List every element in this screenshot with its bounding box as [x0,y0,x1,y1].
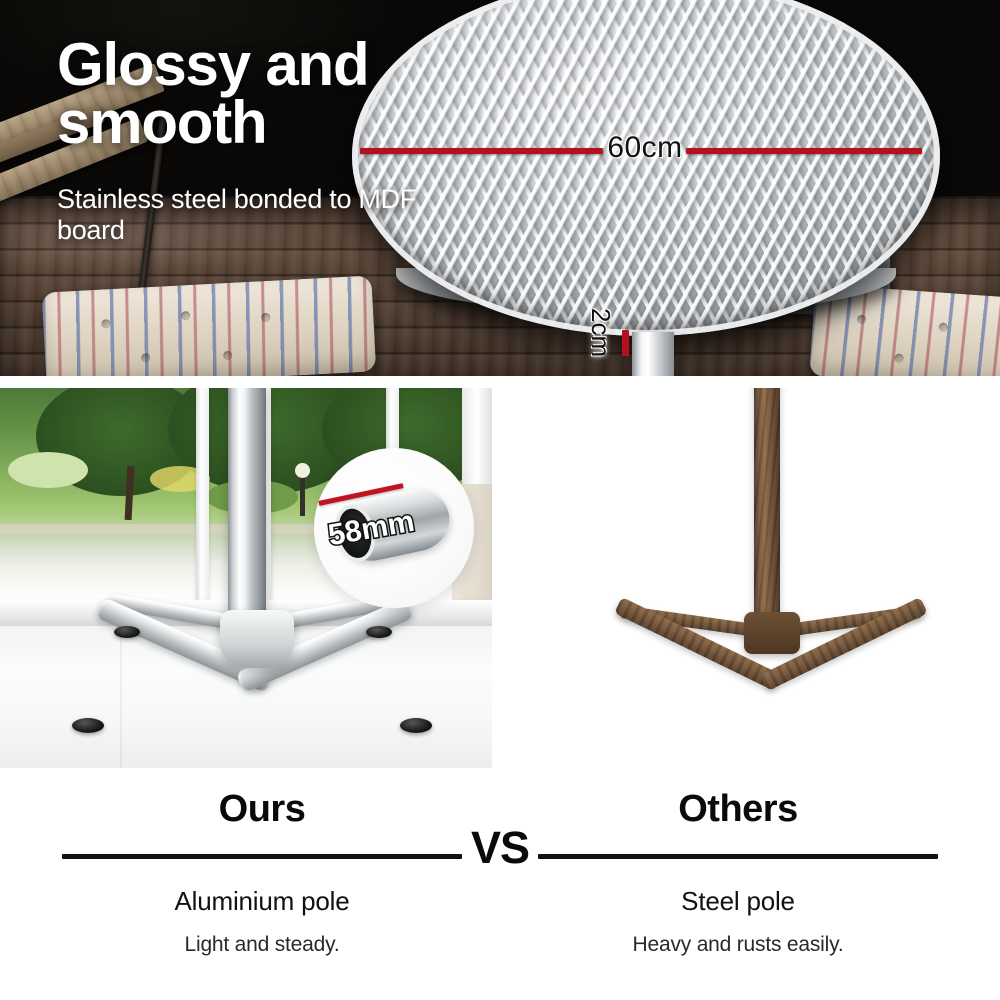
column-note: Light and steady. [62,933,462,957]
product-feature-sheet: 60cm 2cm Glossy and smooth Stainless ste… [0,0,1000,1000]
tree-trunk [125,466,135,520]
column-subtitle: Aluminium pole [62,886,462,917]
column-note: Heavy and rusts easily. [538,933,938,957]
diameter-label: 60cm [604,131,686,165]
column-subtitle: Steel pole [538,886,938,917]
base-hub [744,612,800,654]
divider-rule [62,854,462,859]
base-foot [366,626,392,638]
base-hub [220,610,294,668]
hero-headline: Glossy and smooth [57,36,477,152]
table-center-stem [632,332,674,376]
comparison-column-others: Others [538,790,938,830]
aluminium-x-base [78,612,430,752]
base-foot [400,718,432,733]
window-mullion [196,388,209,626]
hero-subline: Stainless steel bonded to MDF board [57,184,457,247]
comparison-text-ours: Aluminium pole Light and steady. [62,868,462,957]
divider-rule [538,854,938,859]
pole-diameter-inset: 58mm [314,448,474,608]
thickness-label: 2cm [585,308,616,357]
comparison-text-others: Steel pole Heavy and rusts easily. [538,868,938,957]
aluminium-base-photo: 58mm [0,388,492,768]
comparison-column-ours: Ours [62,790,462,830]
garden-lamp [300,474,305,516]
base-foot [72,718,104,733]
aluminium-pole [228,388,266,634]
diameter-measure-line-right [686,148,922,154]
column-title: Others [538,790,938,830]
vs-label: VS [466,822,534,874]
base-foot [114,626,140,638]
thickness-measure-tick [622,330,629,356]
rusty-steel-pole [754,388,780,644]
comparison-photo-row: 58mm [0,388,1000,768]
shrub [8,452,88,488]
striped-cushion [42,275,377,376]
comparison-block: Ours Others VS Aluminium pole Light and … [0,790,1000,970]
steel-base-photo [560,388,1000,768]
rusty-x-base [584,616,956,752]
hero-panel: 60cm 2cm Glossy and smooth Stainless ste… [0,0,1000,376]
column-title: Ours [62,790,462,830]
